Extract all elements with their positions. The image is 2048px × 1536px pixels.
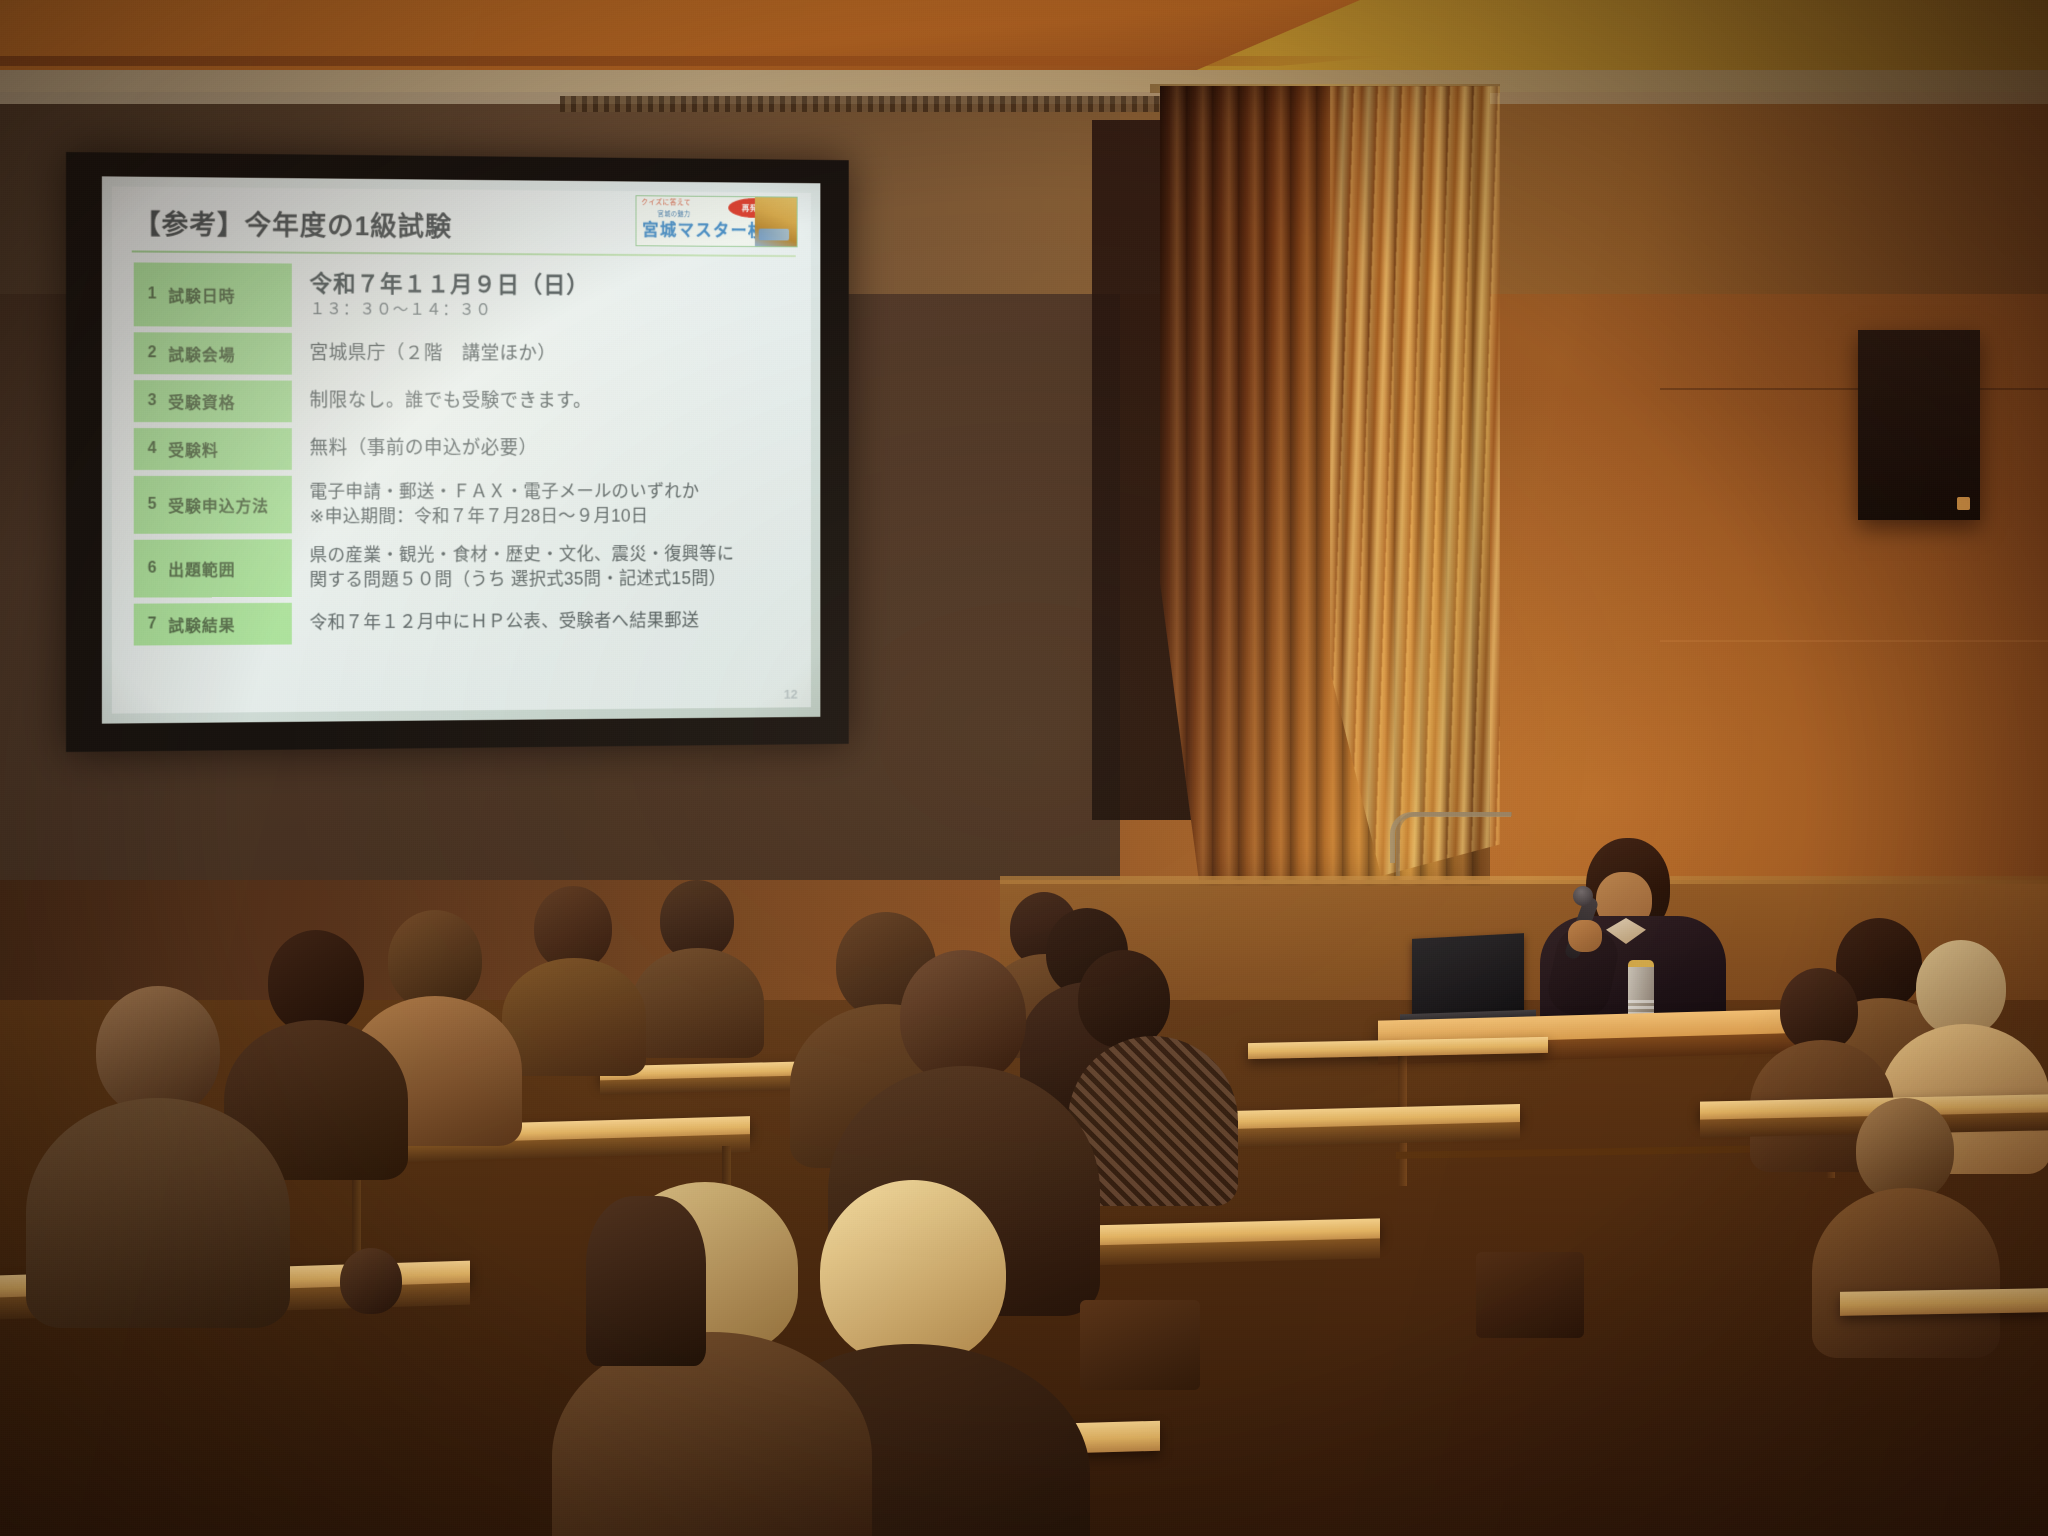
row-label: 3 受験資格 (134, 380, 292, 422)
chair-back (1080, 1300, 1200, 1390)
row-value: 宮城県庁（２階 講堂ほか） (292, 333, 790, 376)
row-value: 令和７年１１月９日（日） １３：３０〜１４：３０ (292, 263, 790, 329)
table-row: 7 試験結果 令和７年１２月中にＨＰ公表、受験者へ結果郵送 (134, 600, 790, 645)
row-value-main: 令和７年１２月中にＨＰ公表、受験者へ結果郵送 (310, 608, 791, 636)
row-value-sub: １３：３０〜１４：３０ (310, 300, 791, 324)
screen-surface: 【参考】今年度の1級試験 クイズに答えて 宮城の魅力 再発見 宮城マスター検定 (102, 176, 820, 723)
person-body (586, 1196, 706, 1366)
table-row: 4 受験料 無料（事前の申込が必要） (134, 428, 790, 470)
row-value: 令和７年１２月中にＨＰ公表、受験者へ結果郵送 (292, 600, 790, 644)
slide-header: 【参考】今年度の1級試験 クイズに答えて 宮城の魅力 再発見 宮城マスター検定 (112, 186, 811, 257)
presentation-room-photo: 【参考】今年度の1級試験 クイズに答えて 宮城の魅力 再発見 宮城マスター検定 (0, 0, 2048, 1536)
wall-speaker (1858, 330, 1980, 520)
row-label: 1 試験日時 (134, 262, 292, 327)
row-value: 電子申請・郵送・ＦＡＸ・電子メールのいずれか ※申込期間：令和７年７月28日〜９… (292, 475, 790, 533)
row-label-text: 受験申込方法 (168, 493, 269, 517)
ceiling-rim (0, 56, 1390, 66)
row-label-text: 受験料 (168, 437, 218, 461)
row-value: 制限なし。誰でも受験できます。 (292, 381, 790, 423)
row-value-main: 制限なし。誰でも受験できます。 (310, 389, 791, 415)
row-label-text: 試験会場 (168, 341, 235, 365)
stage-handrail-secondary (1396, 812, 1512, 876)
stage-edge (1000, 876, 2048, 884)
speaker-indicator-icon (1957, 497, 1970, 510)
projection-screen: 【参考】今年度の1級試験 クイズに答えて 宮城の魅力 再発見 宮城マスター検定 (66, 152, 849, 752)
row-value-main: 県の産業・観光・食材・歴史・文化、震災・復興等に (310, 541, 791, 568)
row-label-text: 試験日時 (168, 283, 235, 307)
row-number: 5 (148, 496, 158, 514)
row-value: 県の産業・観光・食材・歴史・文化、震災・復興等に 関する問題５０問（うち 選択式… (292, 538, 790, 597)
person-head (900, 950, 1026, 1084)
person-head (340, 1248, 402, 1314)
person-head (96, 986, 220, 1116)
person-head (820, 1180, 1006, 1366)
row-value-main: 宮城県庁（２階 講堂ほか） (310, 341, 791, 368)
presenter-hand (1568, 920, 1602, 952)
person-body (26, 1098, 290, 1328)
row-number: 1 (148, 285, 158, 303)
row-number: 3 (148, 392, 158, 410)
row-label-text: 出題範囲 (168, 556, 235, 580)
exam-info-table: 1 試験日時 令和７年１１月９日（日） １３：３０〜１４：３０ 2 試験会場 宮… (134, 262, 790, 645)
slide: 【参考】今年度の1級試験 クイズに答えて 宮城の魅力 再発見 宮城マスター検定 (112, 186, 811, 713)
wall-seam (1660, 388, 2048, 390)
person-head (1078, 950, 1170, 1048)
table-row: 2 試験会場 宮城県庁（２階 講堂ほか） (134, 332, 790, 376)
person-head (1856, 1098, 1954, 1202)
row-label: 4 受験料 (134, 428, 292, 470)
audience-desk (1840, 1288, 2048, 1316)
row-number: 4 (148, 440, 158, 458)
row-label: 5 受験申込方法 (134, 476, 292, 534)
row-label-text: 受験資格 (168, 389, 235, 413)
logo-illustration-icon (755, 197, 797, 246)
row-number: 6 (148, 560, 158, 578)
row-value-sub: 関する問題５０問（うち 選択式35問・記述式15問） (310, 566, 791, 593)
person-body (502, 958, 646, 1076)
table-row: 5 受験申込方法 電子申請・郵送・ＦＡＸ・電子メールのいずれか ※申込期間：令和… (134, 475, 790, 533)
row-value: 無料（事前の申込が必要） (292, 428, 790, 470)
person-body (632, 948, 764, 1058)
table-row: 1 試験日時 令和７年１１月９日（日） １３：３０〜１４：３０ (134, 262, 790, 329)
logo-subtitle-line1: クイズに答えて (641, 199, 691, 208)
row-number: 2 (148, 344, 158, 362)
title-underline (132, 250, 796, 257)
person-body (1812, 1188, 2000, 1358)
presenter-laptop-screen (1412, 933, 1524, 1021)
miyagi-master-kentei-logo: クイズに答えて 宮城の魅力 再発見 宮城マスター検定 (636, 195, 798, 247)
table-row: 6 出題範囲 県の産業・観光・食材・歴史・文化、震災・復興等に 関する問題５０問… (134, 538, 790, 598)
row-label: 2 試験会場 (134, 332, 292, 374)
row-value-sub: ※申込期間：令和７年７月28日〜９月10日 (310, 504, 791, 530)
row-label-text: 試験結果 (168, 612, 235, 636)
slide-page-number: 12 (784, 687, 798, 702)
stage-curtain-lit (1330, 86, 1500, 876)
chair-back (1476, 1252, 1584, 1338)
wall-seam-lower (1660, 640, 2048, 642)
row-value-main: 電子申請・郵送・ＦＡＸ・電子メールのいずれか (310, 479, 791, 504)
person-head (1916, 940, 2006, 1036)
table-row: 3 受験資格 制限なし。誰でも受験できます。 (134, 380, 790, 423)
row-value-main: 無料（事前の申込が必要） (310, 436, 791, 461)
row-number: 7 (148, 615, 158, 633)
row-value-main: 令和７年１１月９日（日） (310, 269, 791, 302)
person-head (388, 910, 482, 1010)
person-head (268, 930, 364, 1034)
slide-title: 【参考】今年度の1級試験 (134, 202, 452, 243)
row-label: 6 出題範囲 (134, 539, 292, 597)
row-label: 7 試験結果 (134, 603, 292, 646)
